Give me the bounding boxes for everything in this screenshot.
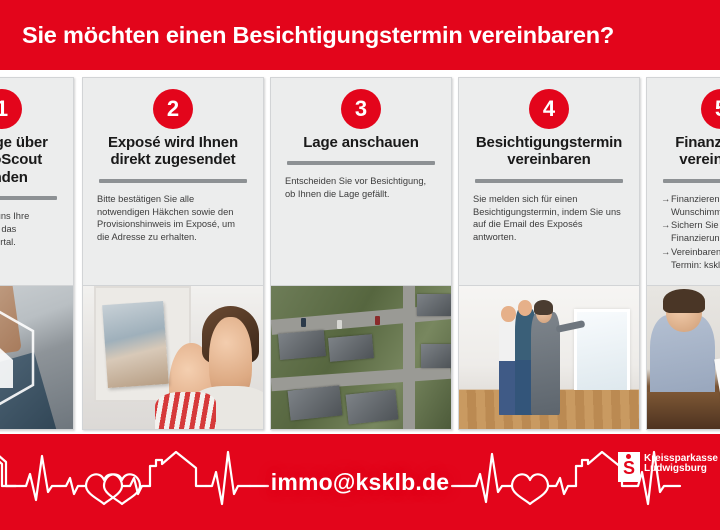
step-number-badge: 2 — [153, 89, 193, 129]
roof-shape — [328, 334, 374, 362]
table-shape — [647, 392, 720, 429]
woman-shirt-shape — [155, 392, 216, 429]
list-item: Finanzieren Sie Ihr Wunschimmobilie — [661, 193, 720, 219]
roof-shape — [288, 385, 343, 420]
sparkasse-logo-line2: Ludwigsburg — [644, 464, 718, 474]
divider-rule — [663, 179, 720, 183]
header-bar: Sie möchten einen Besichtigungstermin ve… — [0, 0, 720, 70]
step-card-2[interactable]: 2 Exposé wird Ihnen direkt zugesendet Bi… — [82, 77, 264, 430]
photo-agent-room — [459, 285, 639, 429]
step-card-3-text: Entscheiden Sie vor Besichtigung, ob Ihn… — [283, 175, 439, 201]
brochure-shape — [102, 301, 169, 388]
step-card-5-bullets: Finanzieren Sie Ihr Wunschimmobilie Sich… — [661, 193, 720, 272]
agent-hair-shape — [534, 300, 554, 314]
infographic-root: Sie möchten einen Besichtigungstermin ve… — [0, 0, 720, 530]
consultant-hair-shape — [663, 289, 704, 313]
sparkasse-logo: Kreissparkasse Ludwigsburg — [618, 452, 718, 482]
step-number-badge: 3 — [341, 89, 381, 129]
divider-rule — [287, 161, 435, 165]
step-card-1-title: Anfrage über ImmoScout senden — [0, 134, 61, 186]
roof-shape — [417, 294, 451, 316]
step-card-4-text: Sie melden sich für einen Besichtigungst… — [471, 193, 627, 244]
step-card-3-title-line1: Lage anschauen — [283, 134, 439, 151]
divider-rule — [99, 179, 247, 183]
divider-rule — [475, 179, 623, 183]
road-shape — [403, 286, 415, 429]
divider-rule — [0, 196, 57, 200]
list-item: Sichern Sie sich Ihre Finanzierung — [661, 219, 720, 245]
step-card-3[interactable]: 3 Lage anschauen Entscheiden Sie vor Bes… — [270, 77, 452, 430]
roof-shape — [278, 330, 326, 360]
step-number-badge: 5 — [701, 89, 720, 129]
step-card-5[interactable]: 5 Finanzierung vereinbaren Finanzieren S… — [646, 77, 720, 430]
car-shape — [337, 320, 342, 329]
photo-couple-brochure — [83, 285, 263, 429]
step-card-5-text: Finanzieren Sie Ihr Wunschimmobilie Sich… — [659, 193, 720, 272]
visitor-woman-head — [501, 306, 515, 322]
step-card-4-body: 4 Besichtigungstermin vereinbaren Sie me… — [459, 89, 639, 297]
roof-shape — [421, 344, 451, 368]
step-card-1[interactable]: 1 Anfrage über ImmoScout senden Senden S… — [0, 77, 74, 430]
list-item: Vereinbaren Sie einen Termin: ksklb.de/b… — [661, 246, 720, 272]
step-card-1-title-line1: Anfrage über — [0, 134, 61, 151]
step-card-4-title: Besichtigungstermin vereinbaren — [471, 134, 627, 169]
step-card-2-title-line1: Exposé wird Ihnen — [95, 134, 251, 151]
step-card-2-body: 2 Exposé wird Ihnen direkt zugesendet Bi… — [83, 89, 263, 297]
step-card-5-title-line1: Finanzierung — [659, 134, 720, 151]
photo-consultation — [647, 285, 720, 429]
step-card-5-title: Finanzierung vereinbaren — [659, 134, 720, 169]
step-card-2-title: Exposé wird Ihnen direkt zugesendet — [95, 134, 251, 169]
sparkasse-logo-text: Kreissparkasse Ludwigsburg — [644, 452, 718, 474]
page-title: Sie möchten einen Besichtigungstermin ve… — [0, 22, 614, 49]
visitor-man-head — [518, 300, 532, 316]
step-card-2-text: Bitte bestätigen Sie alle notwendigen Hä… — [95, 193, 251, 244]
heartbeat-house-heart-icon — [0, 434, 720, 530]
step-card-4[interactable]: 4 Besichtigungstermin vereinbaren Sie me… — [458, 77, 640, 430]
step-card-5-body: 5 Finanzierung vereinbaren Finanzieren S… — [647, 89, 720, 297]
photo-laptop — [0, 285, 73, 429]
step-card-1-text: Senden Sie uns Ihre Anfrage über das Imm… — [0, 210, 61, 248]
footer-bar: immo@ksklb.de Kreissparkasse Ludwigsburg — [0, 434, 720, 530]
step-card-3-title: Lage anschauen — [283, 134, 439, 151]
sparkasse-s-icon — [618, 452, 640, 482]
step-card-1-body: 1 Anfrage über ImmoScout senden Senden S… — [0, 89, 73, 297]
car-shape — [375, 316, 380, 325]
step-card-4-title-line1: Besichtigungstermin — [471, 134, 627, 151]
step-card-2-title-line2: direkt zugesendet — [95, 151, 251, 168]
step-card-5-title-line2: vereinbaren — [659, 151, 720, 168]
step-number-badge: 1 — [0, 89, 22, 129]
photo-aerial-housing — [271, 285, 451, 429]
step-card-3-body: 3 Lage anschauen Entscheiden Sie vor Bes… — [271, 89, 451, 297]
step-card-4-title-line2: vereinbaren — [471, 151, 627, 168]
steps-container: 1 Anfrage über ImmoScout senden Senden S… — [0, 77, 720, 432]
step-number-badge: 4 — [529, 89, 569, 129]
car-shape — [301, 318, 306, 327]
roof-shape — [346, 389, 399, 424]
step-card-1-title-line2: ImmoScout senden — [0, 151, 61, 186]
house-outline-icon — [0, 302, 39, 414]
